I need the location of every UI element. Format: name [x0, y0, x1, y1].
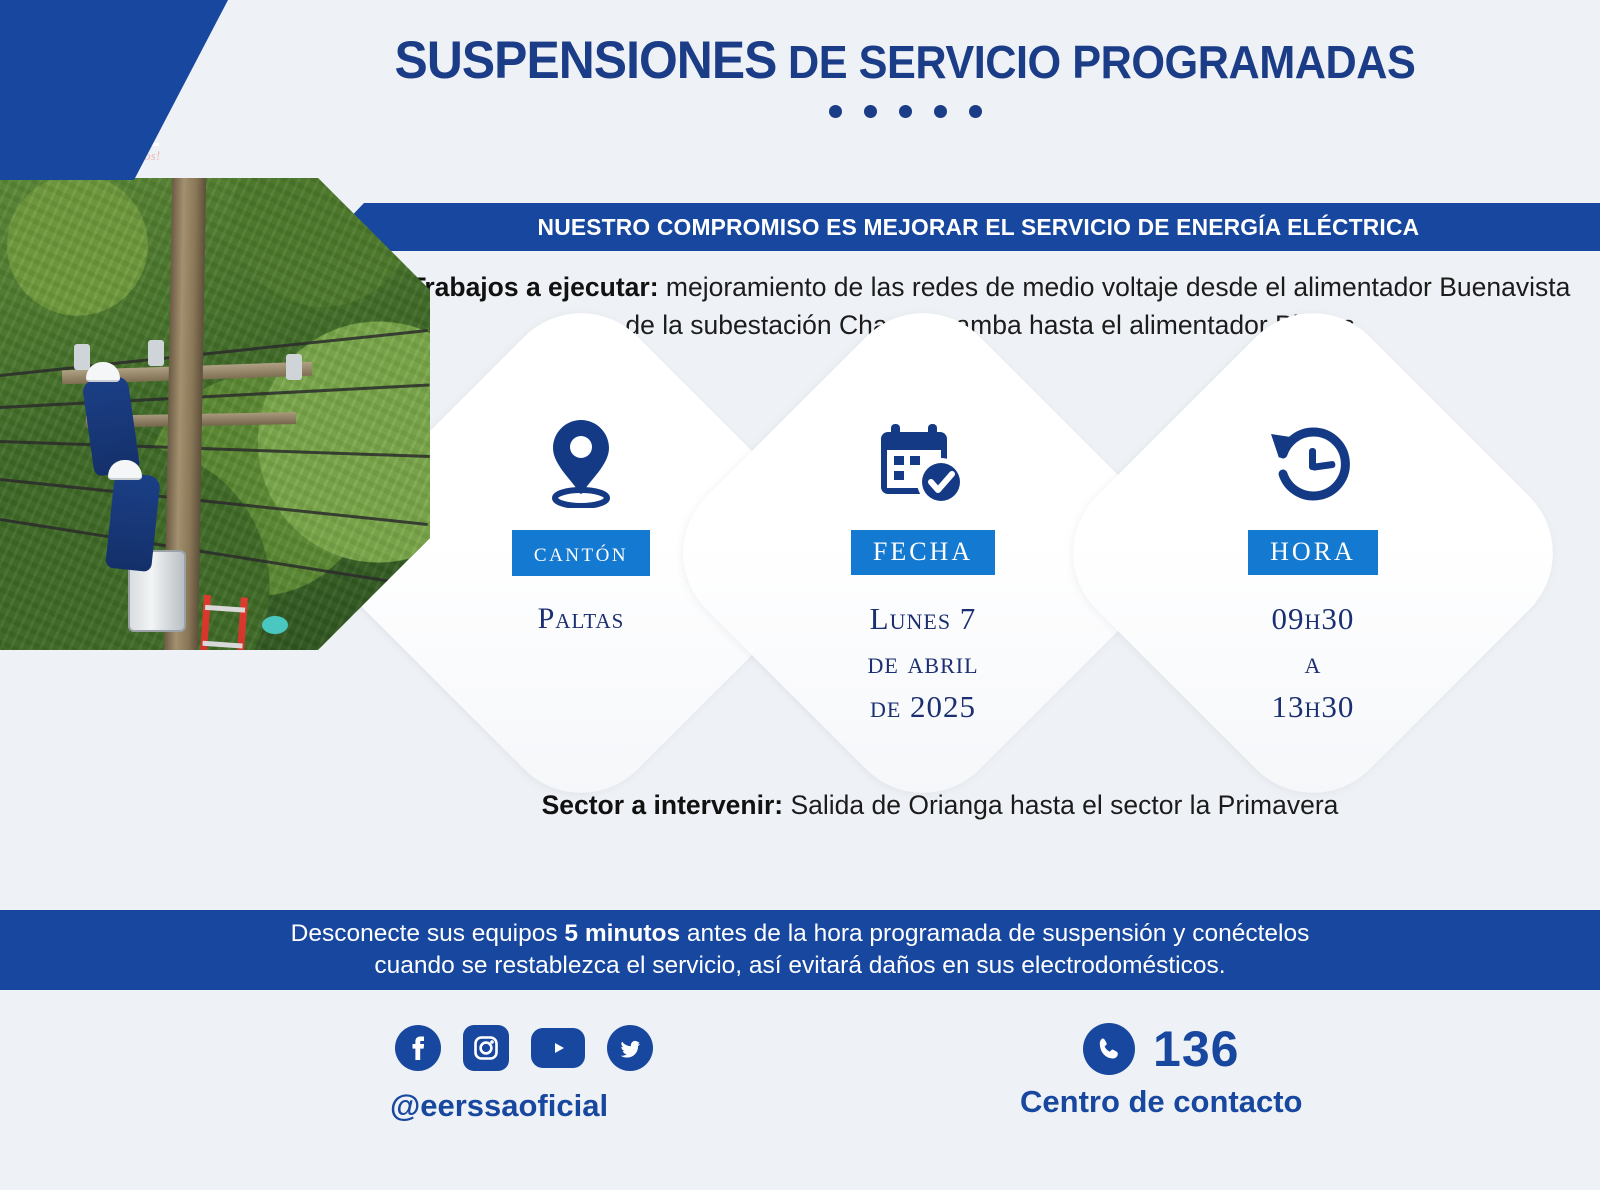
page-title: SUSPENSIONES DE SERVICIO PROGRAMADAS [240, 30, 1570, 118]
notice-line-2: cuando se restablezca el servicio, así e… [374, 950, 1225, 982]
brand-badge [0, 0, 228, 180]
title-rest: DE SERVICIO PROGRAMADAS [788, 36, 1415, 88]
card-value-hora: 09h30 a 13h30 [1120, 597, 1506, 729]
card-value-canton: Paltas [388, 598, 774, 641]
card-fecha: FECHA Lunes 7 de abril de 2025 [730, 360, 1116, 746]
card-label-canton: Cantón [512, 530, 650, 576]
works-text: mejoramiento de las redes de medio volta… [625, 272, 1570, 340]
field-work-photo [0, 178, 430, 658]
contact-number: 136 [1153, 1020, 1239, 1078]
notice-text-a: Desconecte sus equipos [291, 920, 565, 947]
dot [829, 105, 842, 118]
location-pin-icon [388, 412, 774, 508]
card-hora: HORA 09h30 a 13h30 [1120, 360, 1506, 746]
commitment-text: NUESTRO COMPROMISO ES MEJORAR EL SERVICI… [337, 203, 1581, 251]
card-value-fecha: Lunes 7 de abril de 2025 [730, 597, 1116, 729]
dot [864, 105, 877, 118]
clock-history-icon [1120, 412, 1506, 508]
contact-label: Centro de contacto [1020, 1084, 1302, 1120]
poster-root: EERSSA ¡La energía somos todos! SUSPENSI… [0, 0, 1600, 1190]
card-canton: Cantón Paltas [388, 360, 774, 746]
info-cards: Cantón Paltas FECHA Lunes 7 d [378, 360, 1578, 760]
dot-separator [240, 105, 1570, 118]
card-label-fecha: FECHA [851, 530, 995, 575]
notice-text-highlight: 5 minutos [564, 920, 680, 947]
works-label: Trabajos a ejecutar: [410, 272, 659, 302]
youtube-icon[interactable] [531, 1028, 585, 1068]
title-strong: SUSPENSIONES [395, 31, 777, 90]
dot [969, 105, 982, 118]
sector-text: Salida de Orianga hasta el sector la Pri… [783, 790, 1338, 820]
social-handle: @eerssaoficial [390, 1088, 608, 1124]
facebook-icon[interactable] [395, 1025, 441, 1071]
calendar-check-icon [730, 412, 1116, 508]
dot [899, 105, 912, 118]
safety-notice: Desconecte sus equipos 5 minutos antes d… [0, 910, 1600, 990]
contact-center: 136 Centro de contacto [1020, 1020, 1302, 1120]
twitter-icon[interactable] [607, 1025, 653, 1071]
sector-label: Sector a intervenir: [542, 790, 784, 820]
dot [934, 105, 947, 118]
instagram-icon[interactable] [463, 1025, 509, 1071]
notice-text-c: antes de la hora programada de suspensió… [680, 920, 1309, 947]
phone-icon [1083, 1023, 1135, 1075]
notice-line-1: Desconecte sus equipos 5 minutos antes d… [291, 918, 1310, 950]
commitment-banner: NUESTRO COMPROMISO ES MEJORAR EL SERVICI… [318, 203, 1600, 251]
social-links [395, 1025, 653, 1071]
card-label-hora: HORA [1248, 530, 1378, 575]
footer: @eerssaoficial 136 Centro de contacto [0, 1000, 1600, 1190]
sector-description: Sector a intervenir: Salida de Orianga h… [300, 790, 1580, 821]
